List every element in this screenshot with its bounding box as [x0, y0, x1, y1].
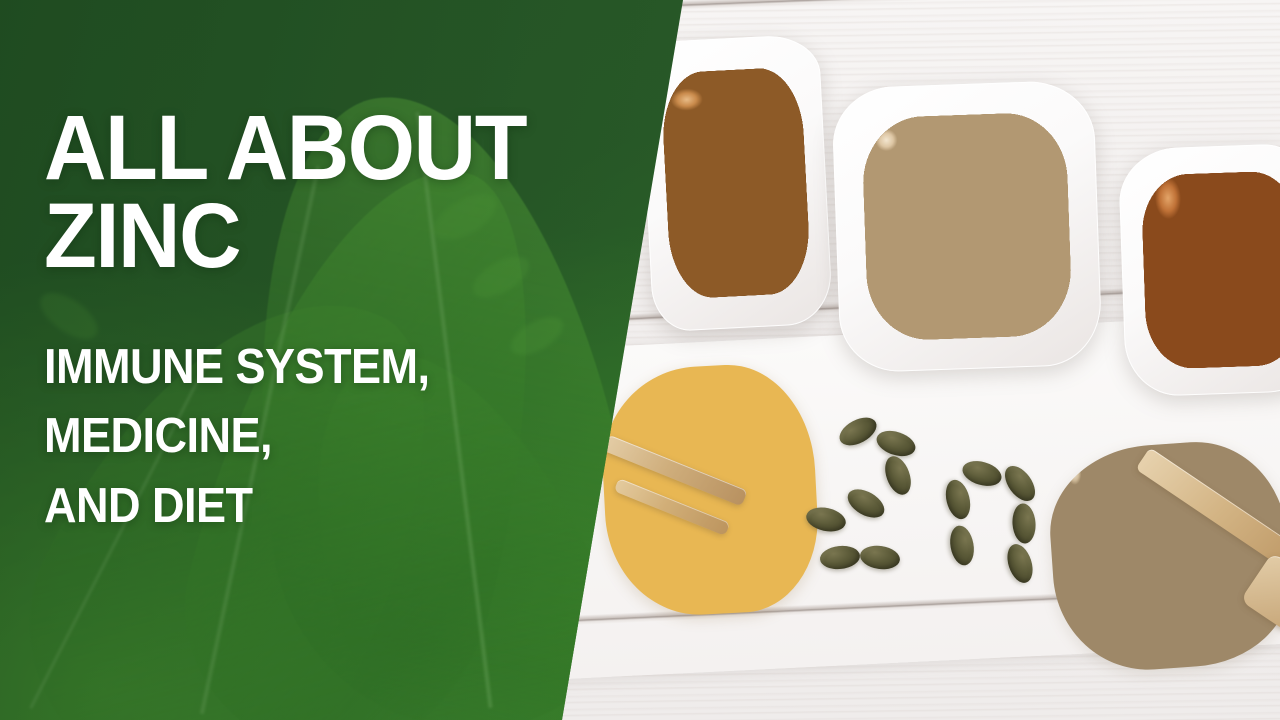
almond-bowl-well [1141, 171, 1280, 370]
subtitle: IMMUNE SYSTEM, MEDICINE, AND DIET [44, 333, 596, 542]
chickpeas [861, 112, 1073, 341]
video-thumbnail: ALL ABOUT ZINC IMMUNE SYSTEM, MEDICINE, … [0, 0, 1280, 720]
walnuts [660, 66, 812, 299]
page-title: ALL ABOUT ZINC [44, 104, 608, 281]
almonds [1141, 171, 1280, 370]
chickpea-bowl [831, 80, 1103, 374]
chickpea-bowl-well [861, 112, 1073, 341]
walnut-bowl-well [660, 66, 812, 299]
almond-bowl [1118, 143, 1280, 398]
title-text-block: ALL ABOUT ZINC IMMUNE SYSTEM, MEDICINE, … [44, 104, 644, 541]
